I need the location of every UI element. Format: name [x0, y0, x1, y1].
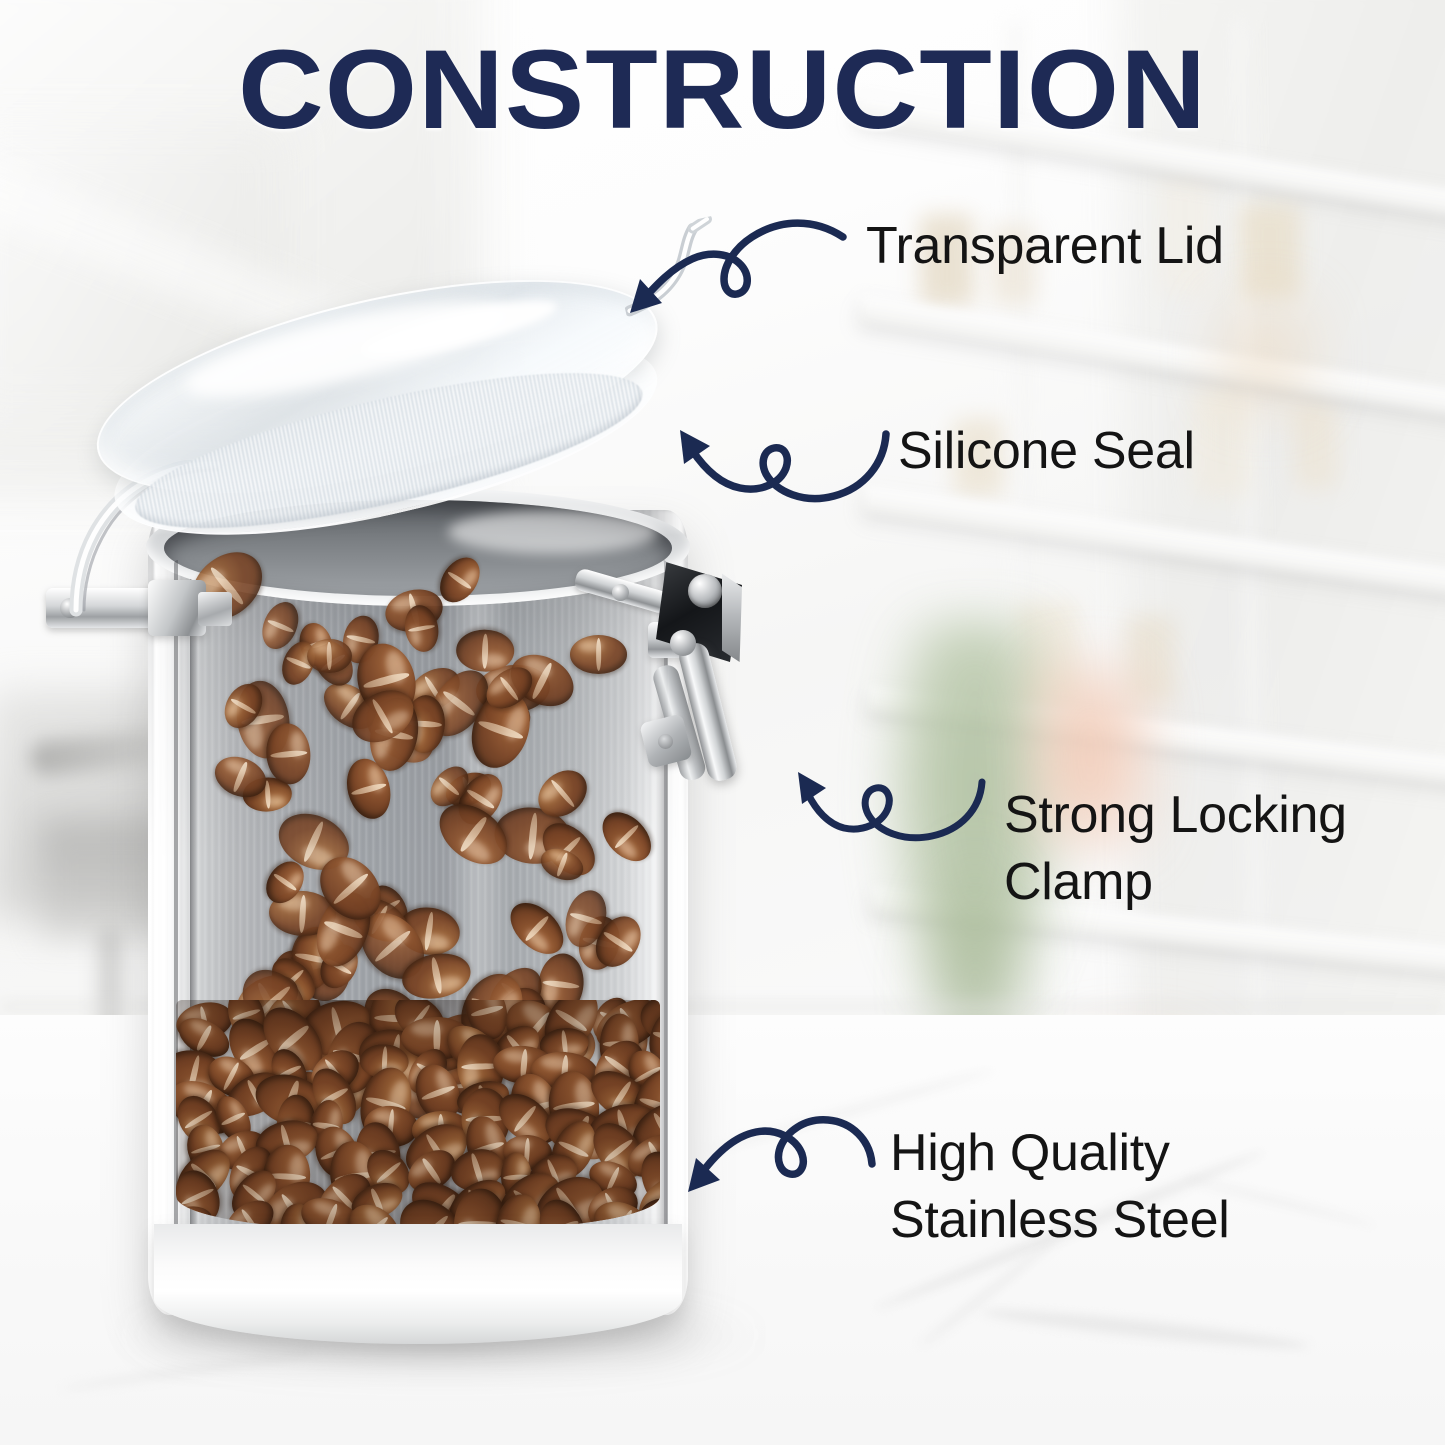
callout-label-locking-clamp: Strong Locking Clamp — [1004, 782, 1347, 915]
bean-highlight — [316, 917, 343, 954]
locking-clamp — [622, 558, 802, 808]
arrow-locking-clamp — [782, 752, 992, 852]
bean-highlight — [411, 1022, 442, 1036]
bean-highlight — [217, 1056, 242, 1077]
clamp-arm-rivet — [612, 584, 629, 601]
bean-highlight — [548, 848, 570, 864]
arrow-transparent-lid — [600, 215, 850, 325]
arrow-stainless-steel — [660, 1112, 880, 1217]
callout-label-stainless-steel: High Quality Stainless Steel — [890, 1120, 1229, 1253]
bean-highlight — [484, 1000, 503, 1015]
bean-highlight — [262, 617, 280, 641]
bean-highlight — [409, 625, 423, 647]
bean-highlight — [289, 1153, 305, 1182]
bean-highlight — [263, 796, 285, 808]
bean-highlight — [480, 653, 506, 667]
clamp-catch-hole — [658, 734, 673, 749]
bean-highlight — [540, 1055, 570, 1070]
bean-highlight — [433, 1067, 454, 1095]
bean-highlight — [289, 730, 305, 758]
callout-label-silicone-seal: Silicone Seal — [898, 418, 1195, 485]
coffee-bean — [306, 639, 351, 674]
clamp-plate-edge — [722, 566, 742, 662]
bean-highlight — [613, 835, 639, 861]
bean-highlight — [566, 910, 585, 938]
bean-highlight — [457, 833, 493, 865]
bean-highlight — [422, 933, 451, 952]
bean-highlight — [313, 643, 333, 654]
coffee-bean — [455, 629, 514, 672]
bean-highlight — [430, 776, 450, 797]
bean-highlight — [459, 567, 480, 591]
bean-highlight — [618, 926, 642, 953]
bean-highlight — [502, 704, 530, 742]
infographic-canvas: CONSTRUCTION — [0, 0, 1445, 1445]
bean-highlight — [502, 1048, 530, 1063]
bean-highlight — [480, 784, 503, 811]
clamp-pivot-rivet — [670, 630, 696, 656]
arrow-silicone-seal — [648, 412, 898, 512]
coffee-bean — [264, 721, 313, 786]
coffee-bean — [570, 635, 627, 674]
bean-highlight — [224, 756, 250, 776]
bean-highlight — [510, 1138, 532, 1150]
bean-highlight — [524, 926, 552, 954]
coffee-canister — [118, 470, 718, 1340]
bean-highlight — [383, 649, 409, 685]
bean-highlight — [597, 1161, 622, 1180]
callout-label-transparent-lid: Transparent Lid — [866, 213, 1224, 280]
bean-highlight — [538, 779, 564, 804]
marble-vein — [980, 1304, 1310, 1354]
background-warm-accent — [1210, 290, 1320, 420]
bean-highlight — [224, 696, 244, 719]
bean-highlight — [311, 1198, 341, 1219]
coffee-bean-bed — [176, 1000, 660, 1230]
coffee-bean — [593, 803, 660, 870]
canister-base — [154, 1224, 682, 1344]
bean-highlight — [337, 856, 370, 890]
shelf-jar — [1239, 203, 1301, 299]
page-title: CONSTRUCTION — [0, 34, 1445, 146]
clamp-screw — [688, 574, 722, 608]
bean-highlight — [285, 870, 305, 892]
bean-highlight — [432, 974, 464, 994]
bean-highlight — [578, 639, 603, 651]
